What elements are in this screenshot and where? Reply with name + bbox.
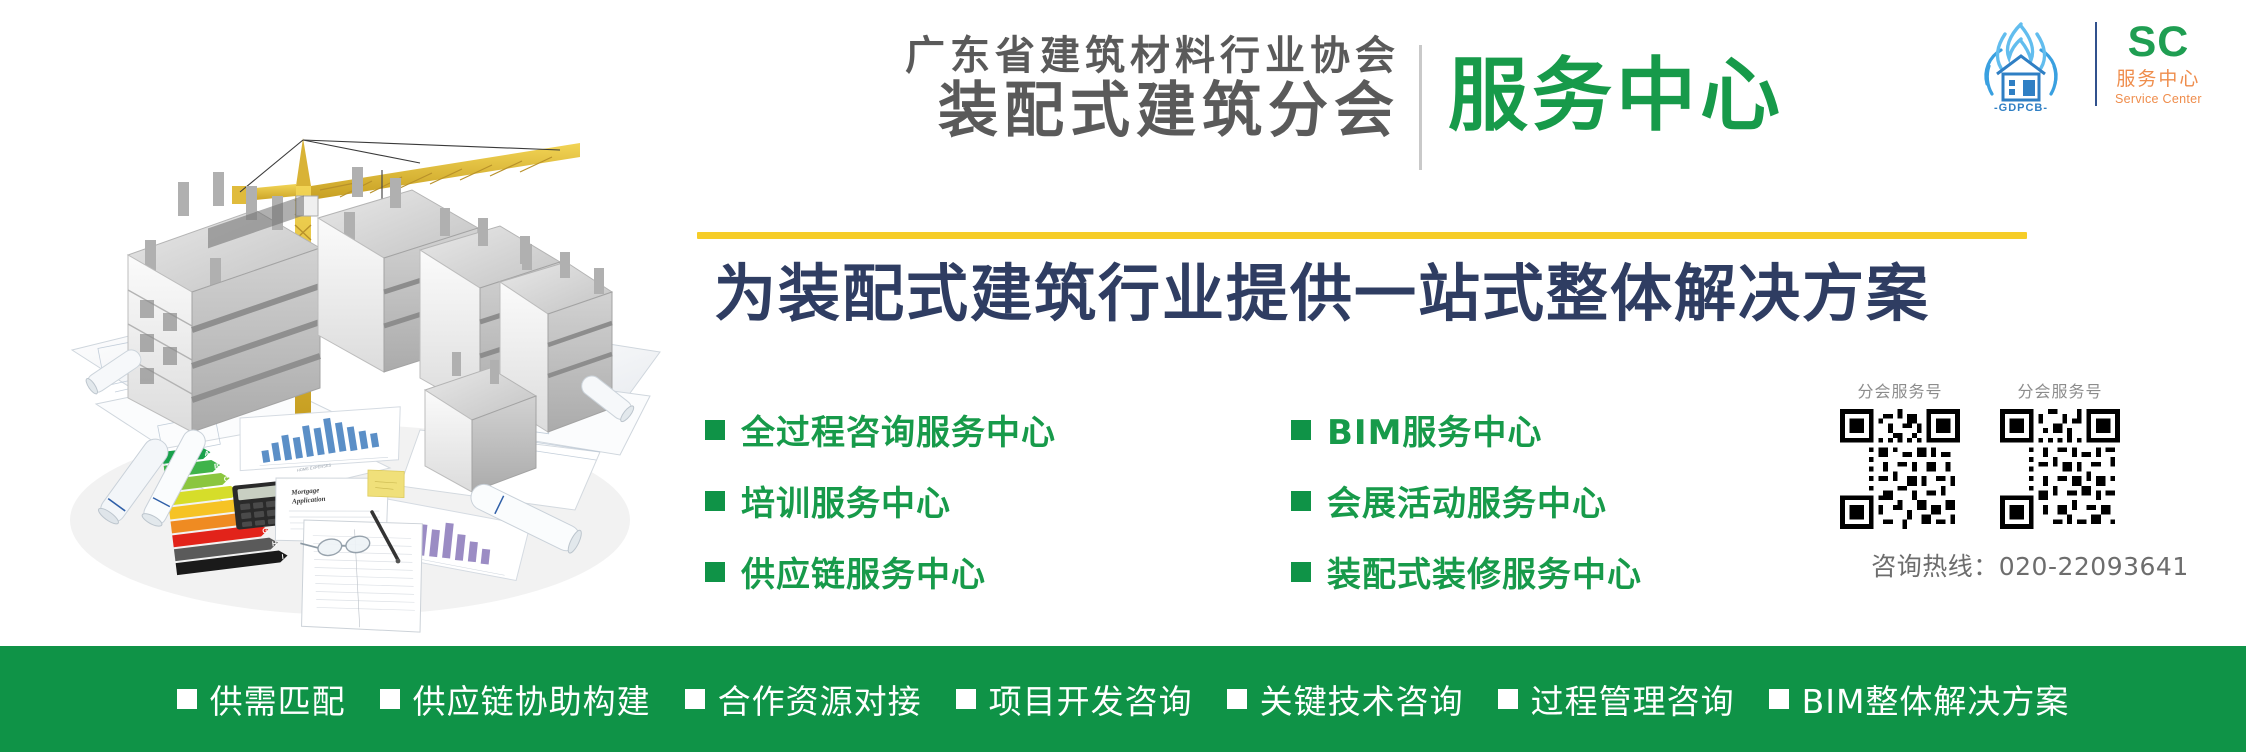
qr-code-icon[interactable]: [2000, 409, 2120, 529]
svg-text:C: C: [223, 476, 229, 484]
bottom-services-bar: 供需匹配 供应链协助构建 合作资源对接 项目开发咨询 关键技术咨询 过程管理咨询…: [0, 646, 2246, 752]
sc-chinese-label: 服务中心: [2116, 64, 2200, 91]
gold-divider-rule: [697, 232, 2027, 239]
list-item-label: BIM服务中心: [1327, 405, 1542, 454]
bar-item-label: 合作资源对接: [718, 675, 922, 723]
page-headline: 为装配式建筑行业提供一站式整体解决方案: [714, 258, 1930, 329]
list-item-label: 装配式装修服务中心: [1327, 547, 1642, 596]
qr-code-icon[interactable]: [1840, 409, 1960, 529]
service-center-list: 全过程咨询服务中心 培训服务中心 供应链服务中心 BIM服务中心 会展活动服务中…: [705, 405, 1671, 596]
square-bullet-icon: [705, 562, 725, 582]
logo-separator: [2095, 22, 2097, 106]
list-item-label: 全过程咨询服务中心: [741, 405, 1056, 454]
bar-item[interactable]: 供应链协助构建: [380, 675, 651, 723]
square-bullet-icon: [1291, 420, 1311, 440]
sc-letters: SC: [2128, 22, 2190, 63]
svg-text:B: B: [214, 463, 220, 471]
bar-item[interactable]: 合作资源对接: [685, 675, 922, 723]
gdpcb-house-flame-logo: -GDPCB-: [1965, 14, 2077, 114]
square-bullet-icon: [380, 689, 400, 709]
square-bullet-icon: [705, 420, 725, 440]
qr-row: 分会服务号: [1840, 378, 2220, 529]
sc-service-center-logo: SC 服务中心 Service Center: [2115, 22, 2202, 106]
bar-item[interactable]: 关键技术咨询: [1227, 675, 1464, 723]
square-bullet-icon: [1291, 562, 1311, 582]
bar-item[interactable]: 过程管理咨询: [1498, 675, 1735, 723]
list-item-label: 会展活动服务中心: [1327, 476, 1607, 525]
list-item[interactable]: 装配式装修服务中心: [1291, 547, 1671, 596]
square-bullet-icon: [177, 689, 197, 709]
list-item[interactable]: 培训服务中心: [705, 476, 1205, 525]
service-center-heading: 服务中心: [1448, 48, 1784, 144]
construction-hero-image: A B C D E F G H I: [0, 0, 700, 648]
square-bullet-icon: [705, 491, 725, 511]
association-name-block: 广东省建筑材料行业协会 装配式建筑分会: [700, 36, 1400, 143]
list-item[interactable]: 供应链服务中心: [705, 547, 1205, 596]
qr-and-hotline-block: 分会服务号: [1840, 378, 2220, 583]
square-bullet-icon: [685, 689, 705, 709]
square-bullet-icon: [956, 689, 976, 709]
qr-label: 分会服务号: [2017, 378, 2102, 402]
promotional-banner: A B C D E F G H I: [0, 0, 2246, 752]
title-vertical-divider: [1419, 45, 1422, 170]
square-bullet-icon: [1498, 689, 1518, 709]
svg-text:A: A: [204, 450, 210, 458]
square-bullet-icon: [1769, 689, 1789, 709]
qr-label: 分会服务号: [1857, 378, 1942, 402]
qr-cell-2: 分会服务号: [2000, 378, 2120, 529]
bar-item-label: 供需匹配: [210, 675, 346, 723]
bar-item-label: BIM整体解决方案: [1802, 675, 2070, 723]
list-item[interactable]: BIM服务中心: [1291, 405, 1671, 454]
sc-english-label: Service Center: [2115, 92, 2202, 106]
logo-group: -GDPCB- SC 服务中心 Service Center: [1965, 14, 2202, 114]
list-item[interactable]: 全过程咨询服务中心: [705, 405, 1205, 454]
qr-cell-1: 分会服务号: [1840, 378, 1960, 529]
bar-item-label: 关键技术咨询: [1260, 675, 1464, 723]
association-name-line2: 装配式建筑分会: [700, 80, 1400, 143]
list-item[interactable]: 会展活动服务中心: [1291, 476, 1671, 525]
service-column-right: BIM服务中心 会展活动服务中心 装配式装修服务中心: [1291, 405, 1671, 596]
bar-item[interactable]: 供需匹配: [177, 675, 346, 723]
hotline-text: 咨询热线：020-22093641: [1840, 547, 2220, 583]
sticky-note: [366, 467, 406, 500]
square-bullet-icon: [1227, 689, 1247, 709]
svg-text:H: H: [272, 541, 278, 549]
gdpcb-caption: -GDPCB-: [1994, 102, 2048, 114]
association-name-line1: 广东省建筑材料行业协会: [700, 36, 1400, 76]
square-bullet-icon: [1291, 491, 1311, 511]
bar-item[interactable]: 项目开发咨询: [956, 675, 1193, 723]
bar-item-label: 项目开发咨询: [989, 675, 1193, 723]
bar-item-label: 供应链协助构建: [413, 675, 651, 723]
service-column-left: 全过程咨询服务中心 培训服务中心 供应链服务中心: [705, 405, 1205, 596]
bar-item-label: 过程管理咨询: [1531, 675, 1735, 723]
bar-item[interactable]: BIM整体解决方案: [1769, 675, 2070, 723]
list-item-label: 供应链服务中心: [741, 547, 986, 596]
list-item-label: 培训服务中心: [741, 476, 951, 525]
